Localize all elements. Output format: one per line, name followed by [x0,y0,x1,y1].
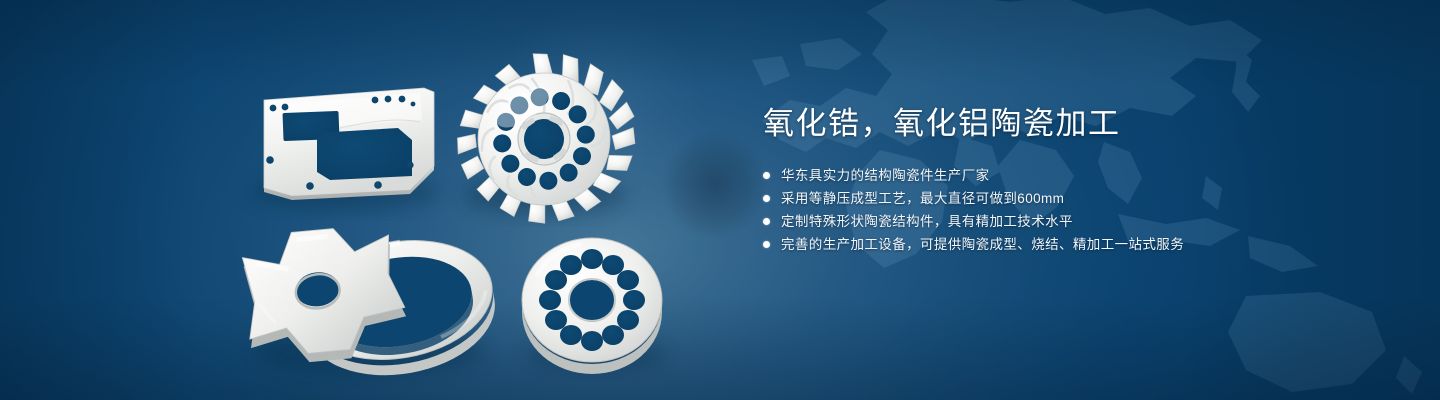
list-item: 采用等静压成型工艺，最大直径可做到600mm [763,187,1283,210]
list-item: 华东具实力的结构陶瓷件生产厂家 [763,164,1283,187]
list-item-label: 采用等静压成型工艺，最大直径可做到600mm [781,187,1064,210]
list-item-label: 定制特殊形状陶瓷结构件，具有精加工技术水平 [781,210,1073,233]
banner-title: 氧化锆，氧化铝陶瓷加工 [763,104,1283,144]
promo-banner: 氧化锆，氧化铝陶瓷加工 华东具实力的结构陶瓷件生产厂家 采用等静压成型工艺，最大… [0,0,1440,400]
feature-list: 华东具实力的结构陶瓷件生产厂家 采用等静压成型工艺，最大直径可做到600mm 定… [763,164,1283,256]
bullet-dot-icon [763,195,770,202]
bullet-dot-icon [763,172,770,179]
list-item: 定制特殊形状陶瓷结构件，具有精加工技术水平 [763,210,1283,233]
bullet-dot-icon [763,218,770,225]
ceramic-hole-disc [522,238,662,374]
list-item: 完善的生产加工设备，可提供陶瓷成型、烧结、精加工一站式服务 [763,233,1283,256]
list-item-label: 完善的生产加工设备，可提供陶瓷成型、烧结、精加工一站式服务 [781,233,1184,256]
banner-copy: 氧化锆，氧化铝陶瓷加工 华东具实力的结构陶瓷件生产厂家 采用等静压成型工艺，最大… [763,104,1283,256]
bullet-dot-icon [763,241,770,248]
list-item-label: 华东具实力的结构陶瓷件生产厂家 [781,164,990,187]
ceramic-parts-photo [0,0,720,400]
ceramic-mounting-plate [264,88,434,200]
